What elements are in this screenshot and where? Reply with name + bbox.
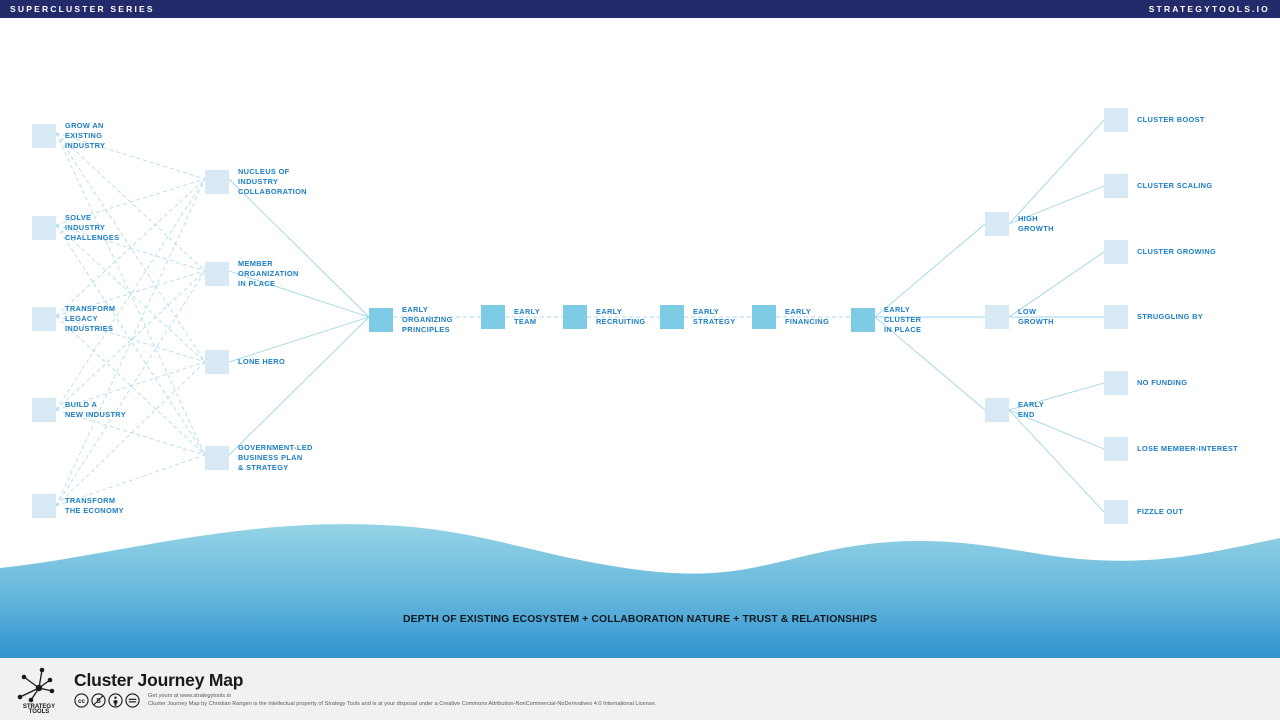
- attribution-icon: [108, 693, 123, 708]
- node-box[interactable]: [985, 305, 1009, 329]
- svg-text:cc: cc: [78, 698, 85, 705]
- node-label: SOLVE INDUSTRY CHALLENGES: [65, 213, 119, 244]
- brand-label: STRATEGYTOOLS.IO: [1149, 4, 1270, 14]
- node-box[interactable]: [205, 350, 229, 374]
- footer-get-yours-line: Get yours at www.strategytools.io: [148, 692, 656, 700]
- connector-solid: [229, 179, 369, 317]
- node-spine-5[interactable]: EARLY FINANCING: [752, 305, 829, 329]
- connector-dashed: [56, 316, 205, 455]
- node-label: GOVERNMENT-LED BUSINESS PLAN & STRATEGY: [238, 443, 313, 474]
- cc-icon: cc: [74, 693, 89, 708]
- node-box[interactable]: [32, 398, 56, 422]
- connector-lines: [0, 18, 1280, 658]
- connector-solid: [1009, 410, 1104, 512]
- node-origin-4[interactable]: GOVERNMENT-LED BUSINESS PLAN & STRATEGY: [205, 443, 313, 474]
- node-box[interactable]: [985, 398, 1009, 422]
- creative-commons-icons: cc S: [74, 693, 140, 708]
- connector-dashed: [56, 362, 205, 506]
- node-box[interactable]: [32, 124, 56, 148]
- node-result-4[interactable]: STRUGGLING BY: [1104, 305, 1203, 329]
- connector-solid: [875, 224, 985, 317]
- node-box[interactable]: [1104, 500, 1128, 524]
- node-outcome-3[interactable]: EARLY END: [985, 398, 1044, 422]
- node-motivation-2[interactable]: SOLVE INDUSTRY CHALLENGES: [32, 213, 119, 244]
- node-result-7[interactable]: FIZZLE OUT: [1104, 500, 1183, 524]
- network-starburst-icon: STRATEGY TOOLS: [12, 664, 66, 714]
- node-label: CLUSTER SCALING: [1137, 181, 1212, 191]
- node-box[interactable]: [32, 307, 56, 331]
- node-motivation-1[interactable]: GROW AN EXISTING INDUSTRY: [32, 121, 105, 152]
- node-label: HIGH GROWTH: [1018, 214, 1054, 234]
- node-spine-6[interactable]: EARLY CLUSTER IN PLACE: [851, 305, 921, 336]
- node-box[interactable]: [205, 446, 229, 470]
- node-outcome-1[interactable]: HIGH GROWTH: [985, 212, 1054, 236]
- node-result-6[interactable]: LOSE MEMBER-INTEREST: [1104, 437, 1238, 461]
- node-outcome-2[interactable]: LOW GROWTH: [985, 305, 1054, 329]
- node-box[interactable]: [205, 262, 229, 286]
- node-label: EARLY RECRUITING: [596, 307, 646, 327]
- connector-solid: [229, 317, 369, 455]
- node-label: GROW AN EXISTING INDUSTRY: [65, 121, 105, 152]
- node-box[interactable]: [660, 305, 684, 329]
- node-box[interactable]: [481, 305, 505, 329]
- footer-license-line: Cluster Journey Map by Christian Rangen …: [148, 700, 656, 708]
- node-box[interactable]: [1104, 305, 1128, 329]
- node-box[interactable]: [1104, 371, 1128, 395]
- node-label: TRANSFORM THE ECONOMY: [65, 496, 124, 516]
- node-result-2[interactable]: CLUSTER SCALING: [1104, 174, 1212, 198]
- node-label: LOSE MEMBER-INTEREST: [1137, 444, 1238, 454]
- node-box[interactable]: [1104, 108, 1128, 132]
- node-box[interactable]: [1104, 174, 1128, 198]
- node-box[interactable]: [752, 305, 776, 329]
- node-motivation-4[interactable]: BUILD A NEW INDUSTRY: [32, 398, 126, 422]
- node-label: EARLY FINANCING: [785, 307, 829, 327]
- node-origin-2[interactable]: MEMBER ORGANIZATION IN PLACE: [205, 259, 299, 290]
- node-origin-1[interactable]: NUCLEUS OF INDUSTRY COLLABORATION: [205, 167, 307, 198]
- node-box[interactable]: [563, 305, 587, 329]
- node-spine-1[interactable]: EARLY ORGANIZING PRINCIPLES: [369, 305, 453, 336]
- node-box[interactable]: [369, 308, 393, 332]
- node-label: FIZZLE OUT: [1137, 507, 1183, 517]
- node-box[interactable]: [205, 170, 229, 194]
- node-label: CLUSTER BOOST: [1137, 115, 1205, 125]
- noderivatives-icon: [125, 693, 140, 708]
- node-label: EARLY END: [1018, 400, 1044, 420]
- node-spine-2[interactable]: EARLY TEAM: [481, 305, 540, 329]
- noncommercial-icon: S: [91, 693, 106, 708]
- connector-dashed: [56, 179, 205, 316]
- node-motivation-3[interactable]: TRANSFORM LEGACY INDUSTRIES: [32, 304, 115, 335]
- node-result-1[interactable]: CLUSTER BOOST: [1104, 108, 1205, 132]
- node-label: BUILD A NEW INDUSTRY: [65, 400, 126, 420]
- connector-solid: [1009, 120, 1104, 224]
- top-bar: SUPERCLUSTER SERIES STRATEGYTOOLS.IO: [0, 0, 1280, 18]
- wave-caption: DEPTH OF EXISTING ECOSYSTEM + COLLABORAT…: [0, 614, 1280, 625]
- node-spine-3[interactable]: EARLY RECRUITING: [563, 305, 646, 329]
- node-label: TRANSFORM LEGACY INDUSTRIES: [65, 304, 115, 335]
- node-motivation-5[interactable]: TRANSFORM THE ECONOMY: [32, 494, 124, 518]
- node-box[interactable]: [1104, 437, 1128, 461]
- node-label: LOW GROWTH: [1018, 307, 1054, 327]
- footer-content: Cluster Journey Map cc S: [74, 670, 656, 708]
- node-label: EARLY TEAM: [514, 307, 540, 327]
- series-label: SUPERCLUSTER SERIES: [10, 4, 155, 14]
- logo-text-line2: TOOLS: [29, 709, 50, 714]
- document-title: Cluster Journey Map: [74, 670, 656, 690]
- node-label: NUCLEUS OF INDUSTRY COLLABORATION: [238, 167, 307, 198]
- node-label: CLUSTER GROWING: [1137, 247, 1216, 257]
- node-result-3[interactable]: CLUSTER GROWING: [1104, 240, 1216, 264]
- node-origin-3[interactable]: LONE HERO: [205, 350, 285, 374]
- footer-bar: STRATEGY TOOLS Cluster Journey Map cc S: [0, 658, 1280, 720]
- node-label: MEMBER ORGANIZATION IN PLACE: [238, 259, 299, 290]
- strategy-tools-logo: STRATEGY TOOLS: [12, 664, 66, 714]
- node-label: EARLY STRATEGY: [693, 307, 736, 327]
- connector-dashed: [56, 271, 205, 410]
- node-box[interactable]: [985, 212, 1009, 236]
- node-box[interactable]: [32, 494, 56, 518]
- node-box[interactable]: [1104, 240, 1128, 264]
- diagram-canvas: GROW AN EXISTING INDUSTRYSOLVE INDUSTRY …: [0, 18, 1280, 658]
- node-label: EARLY ORGANIZING PRINCIPLES: [402, 305, 453, 336]
- node-result-5[interactable]: NO FUNDING: [1104, 371, 1187, 395]
- node-label: LONE HERO: [238, 357, 285, 367]
- node-box[interactable]: [32, 216, 56, 240]
- node-label: EARLY CLUSTER IN PLACE: [884, 305, 921, 336]
- node-spine-4[interactable]: EARLY STRATEGY: [660, 305, 736, 329]
- node-label: NO FUNDING: [1137, 378, 1187, 388]
- node-label: STRUGGLING BY: [1137, 312, 1203, 322]
- node-box[interactable]: [851, 308, 875, 332]
